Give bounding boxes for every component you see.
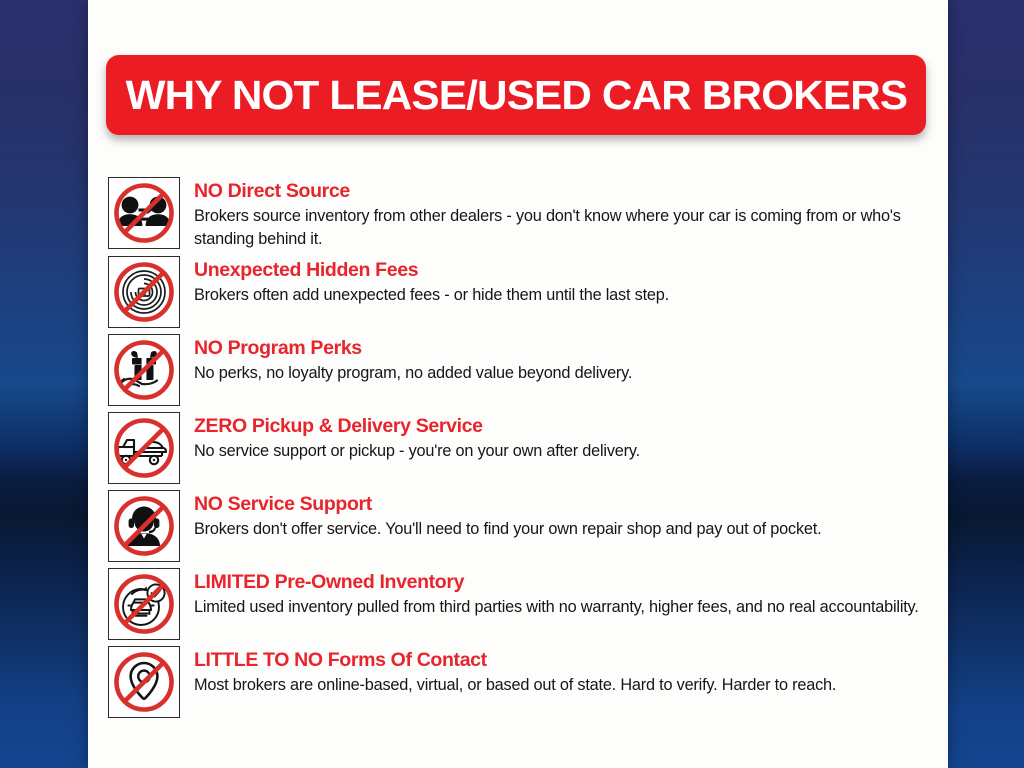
list-item: NO Service Support Brokers don't offer s…: [108, 490, 928, 562]
no-pickup-delivery-tow-truck-icon: [112, 416, 176, 480]
item-title: NO Direct Source: [194, 180, 928, 203]
no-forms-of-contact-map-pin-icon: [112, 650, 176, 714]
item-description: Brokers source inventory from other deal…: [194, 205, 928, 250]
item-text: LIMITED Pre-Owned Inventory Limited used…: [180, 568, 928, 619]
item-text: Unexpected Hidden Fees Brokers often add…: [180, 256, 928, 307]
icon-container: [108, 256, 180, 328]
item-title: NO Program Perks: [194, 337, 928, 360]
item-title: LITTLE TO NO Forms Of Contact: [194, 649, 928, 672]
no-program-perks-gift-hand-icon: [112, 338, 176, 402]
page-wrapper: WHY NOT LEASE/USED CAR BROKERS: [0, 0, 1024, 768]
no-service-support-headset-agent-icon: [112, 494, 176, 558]
item-text: NO Direct Source Brokers source inventor…: [180, 177, 928, 250]
item-description: Limited used inventory pulled from third…: [194, 596, 928, 619]
drawbacks-list: NO Direct Source Brokers source inventor…: [108, 177, 928, 724]
item-text: LITTLE TO NO Forms Of Contact Most broke…: [180, 646, 928, 697]
item-description: No perks, no loyalty program, no added v…: [194, 362, 928, 385]
item-text: ZERO Pickup & Delivery Service No servic…: [180, 412, 928, 463]
icon-container: [108, 412, 180, 484]
limited-pre-owned-inventory-car-check-icon: [112, 572, 176, 636]
icon-container: [108, 177, 180, 249]
title-banner: WHY NOT LEASE/USED CAR BROKERS: [106, 55, 926, 135]
item-title: ZERO Pickup & Delivery Service: [194, 415, 928, 438]
page-title: WHY NOT LEASE/USED CAR BROKERS: [125, 72, 907, 119]
item-text: NO Service Support Brokers don't offer s…: [180, 490, 928, 541]
item-description: Brokers often add unexpected fees - or h…: [194, 284, 928, 307]
item-title: LIMITED Pre-Owned Inventory: [194, 571, 928, 594]
list-item: LIMITED Pre-Owned Inventory Limited used…: [108, 568, 928, 640]
item-title: NO Service Support: [194, 493, 928, 516]
list-item: NO Direct Source Brokers source inventor…: [108, 177, 928, 250]
icon-container: [108, 646, 180, 718]
item-description: Most brokers are online-based, virtual, …: [194, 674, 928, 697]
icon-container: [108, 568, 180, 640]
list-item: LITTLE TO NO Forms Of Contact Most broke…: [108, 646, 928, 718]
item-title: Unexpected Hidden Fees: [194, 259, 928, 282]
icon-container: [108, 490, 180, 562]
item-description: Brokers don't offer service. You'll need…: [194, 518, 928, 541]
item-text: NO Program Perks No perks, no loyalty pr…: [180, 334, 928, 385]
no-direct-source-people-exchange-icon: [112, 181, 176, 245]
item-description: No service support or pickup - you're on…: [194, 440, 928, 463]
list-item: ZERO Pickup & Delivery Service No servic…: [108, 412, 928, 484]
list-item: NO Program Perks No perks, no loyalty pr…: [108, 334, 928, 406]
list-item: Unexpected Hidden Fees Brokers often add…: [108, 256, 928, 328]
icon-container: [108, 334, 180, 406]
no-hidden-fees-spiral-icon: [112, 260, 176, 324]
